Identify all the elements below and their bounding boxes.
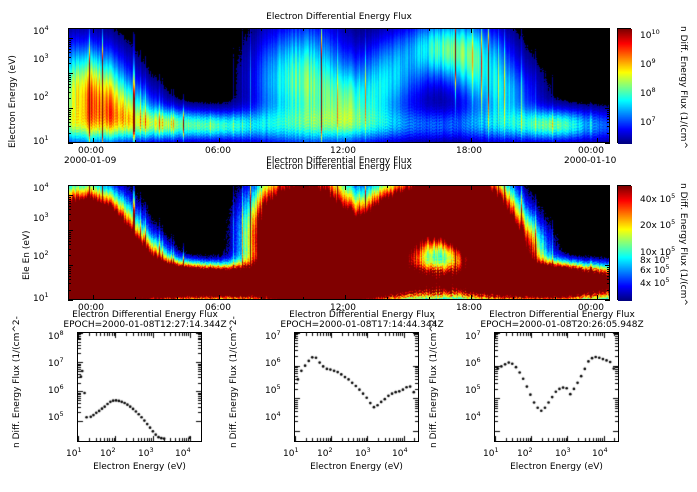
spectrum-1-title: Electron Differential Energy Flux (45, 310, 245, 320)
spectrum-1-ytick-3: 105 (48, 410, 64, 423)
axis-tick (597, 295, 598, 300)
axis-tick (68, 38, 73, 39)
axis-tick (607, 79, 610, 80)
middle-cbar-tick-1: 20x 105 (640, 218, 675, 231)
axis-tick (387, 297, 388, 300)
axis-tick (261, 140, 262, 143)
axis-tick (607, 75, 610, 76)
axis-tick (68, 73, 73, 74)
axis-tick (68, 75, 71, 76)
axis-tick (607, 255, 610, 256)
top-ytick-1: 101 (33, 134, 49, 147)
axis-tick (303, 297, 304, 300)
spectrum-3-frame (494, 332, 619, 442)
axis-tick (429, 185, 430, 188)
axis-tick (68, 203, 71, 204)
axis-tick (68, 269, 71, 270)
axis-tick (135, 140, 136, 143)
axis-tick (597, 138, 598, 143)
axis-tick (261, 28, 262, 31)
axis-tick (607, 57, 610, 58)
middle-cbar-label: n Diff. Energy Flux (1/(cm^ (678, 183, 688, 306)
axis-tick (68, 119, 71, 120)
spectrum-1-ytick-2: 106 (48, 383, 64, 396)
axis-tick (429, 140, 430, 143)
axis-tick (68, 79, 71, 80)
axis-tick (607, 199, 610, 200)
spectrum-1-ytick-1: 107 (48, 356, 64, 369)
axis-tick (607, 40, 610, 41)
axis-tick (68, 52, 71, 53)
spectrum-3-ylabel: n Diff. Energy Flux (1/(cm^2- (429, 316, 439, 448)
axis-tick (303, 28, 304, 31)
middle-cbar-tick-5: 4x 105 (640, 276, 670, 289)
axis-tick (429, 28, 430, 31)
axis-tick (607, 267, 610, 268)
spectrum-2-ytick-2: 105 (265, 383, 281, 396)
spectrum-1-frame (77, 332, 202, 442)
top-cbar-label: n Diff. Energy Flux (1/(cm^ (678, 26, 688, 149)
axis-tick (607, 119, 610, 120)
axis-tick (68, 244, 71, 245)
axis-tick (555, 297, 556, 300)
middle-ytick-4: 104 (33, 181, 49, 194)
axis-tick (607, 46, 610, 47)
axis-tick (68, 63, 71, 64)
axis-tick (513, 28, 514, 31)
axis-tick (68, 273, 71, 274)
axis-tick (607, 116, 610, 117)
top-cbar-tick-1: 109 (640, 57, 656, 70)
axis-tick (607, 114, 610, 115)
axis-tick (607, 63, 610, 64)
spectrum-3-xtick-1: 102 (517, 446, 533, 459)
axis-tick (605, 230, 610, 231)
axis-tick (219, 185, 220, 190)
axis-tick (607, 87, 610, 88)
axis-tick (607, 42, 610, 43)
axis-tick (68, 241, 71, 242)
axis-tick (607, 49, 610, 50)
axis-tick (605, 73, 610, 74)
axis-tick (607, 201, 610, 202)
axis-tick (68, 267, 71, 268)
top-colorbar (617, 28, 631, 143)
axis-tick (607, 269, 610, 270)
axis-tick (261, 297, 262, 300)
axis-tick (387, 140, 388, 143)
axis-tick (345, 138, 346, 143)
top-panel-title: Electron Differential Energy Flux (68, 12, 610, 22)
spectrum-2-xtick-2: 103 (355, 446, 371, 459)
top-cbar-label-group: n Diff. Energy Flux (1/(cm^ (688, 26, 697, 36)
middle-ytick-2: 102 (33, 249, 49, 262)
axis-tick (68, 230, 73, 231)
axis-tick (93, 185, 94, 190)
axis-tick (555, 140, 556, 143)
axis-tick (68, 201, 71, 202)
spectrum-3-xtick-3: 104 (592, 446, 608, 459)
axis-tick (607, 98, 610, 99)
spectrum-3-ytick-1: 106 (465, 356, 481, 369)
axis-tick (93, 28, 94, 33)
axis-tick (68, 133, 71, 134)
spectrum-2-frame (294, 332, 419, 442)
axis-tick (607, 110, 610, 111)
spectrum-1-xlabel: Electron Energy (eV) (77, 462, 202, 472)
top-cbar-tick-2: 108 (640, 86, 656, 99)
axis-tick (607, 241, 610, 242)
axis-tick (135, 185, 136, 188)
middle-colorbar (617, 185, 631, 300)
spectrum-2-ylabel: n Diff. Energy Flux (1/(cm^2- (229, 316, 239, 448)
spectrum-3-ytick-0: 107 (465, 329, 481, 342)
axis-tick (219, 28, 220, 33)
axis-tick (68, 220, 71, 221)
axis-tick (607, 273, 610, 274)
axis-tick (607, 28, 610, 29)
spectrum-2-xtick-0: 101 (283, 446, 299, 459)
axis-tick (607, 185, 610, 186)
axis-tick (607, 122, 610, 123)
axis-tick (607, 276, 610, 277)
axis-tick (68, 236, 71, 237)
top-xtick-4: 00:00 (578, 146, 604, 156)
axis-tick (219, 295, 220, 300)
axis-tick (471, 28, 472, 33)
axis-tick (605, 143, 610, 144)
axis-tick (607, 214, 610, 215)
axis-tick (68, 185, 71, 186)
middle-ylabel-group: Ele En (eV) (22, 280, 72, 290)
axis-tick (177, 28, 178, 31)
top-plot-frame (68, 28, 610, 143)
axis-tick (177, 140, 178, 143)
axis-tick (68, 238, 71, 239)
axis-tick (68, 195, 73, 196)
spectrum-2-ytick-1: 106 (265, 356, 281, 369)
axis-tick (68, 49, 71, 50)
axis-tick (68, 209, 71, 210)
axis-tick (68, 249, 71, 250)
axis-tick (68, 42, 71, 43)
axis-tick (387, 28, 388, 31)
axis-tick (605, 265, 610, 266)
axis-tick (513, 297, 514, 300)
top-xtick-0: 00:00 (78, 146, 104, 156)
axis-tick (555, 185, 556, 188)
axis-tick (68, 46, 71, 47)
axis-tick (387, 185, 388, 188)
axis-tick (607, 283, 610, 284)
axis-tick (471, 138, 472, 143)
spectrum-1-xtick-1: 102 (100, 446, 116, 459)
axis-tick (345, 295, 346, 300)
spectrum-3-xlabel: Electron Energy (eV) (494, 462, 619, 472)
spectrum-1-xtick-3: 104 (175, 446, 191, 459)
axis-tick (68, 57, 71, 58)
axis-tick (135, 297, 136, 300)
middle-ytick-3: 103 (33, 211, 49, 224)
top-ytick-3: 103 (33, 52, 49, 65)
axis-tick (261, 185, 262, 188)
axis-tick (607, 206, 610, 207)
axis-tick (68, 265, 73, 266)
axis-tick (68, 40, 71, 41)
spectrum-3-xtick-2: 103 (555, 446, 571, 459)
axis-tick (68, 28, 71, 29)
axis-tick (513, 140, 514, 143)
axis-tick (68, 77, 71, 78)
spectrum-1-xtick-0: 101 (66, 446, 82, 459)
top-xtick-1: 06:00 (205, 146, 231, 156)
middle-plot-frame (68, 185, 610, 300)
axis-tick (607, 126, 610, 127)
axis-tick (555, 28, 556, 31)
axis-tick (607, 92, 610, 93)
middle-cbar-tick-4: 6x 105 (640, 263, 670, 276)
spectrum-2-xlabel: Electron Energy (eV) (294, 462, 419, 472)
middle-panel-title: Electron Differential Energy Flux (68, 162, 610, 172)
spectrum-1-xtick-2: 103 (138, 446, 154, 459)
axis-tick (607, 209, 610, 210)
axis-tick (219, 138, 220, 143)
spectrum-2-xtick-1: 102 (317, 446, 333, 459)
spectrum-3-ytick-3: 104 (465, 410, 481, 423)
axis-tick (605, 195, 610, 196)
spectrum-3-xtick-0: 101 (483, 446, 499, 459)
axis-tick (68, 87, 71, 88)
spectrum-2-ytick-3: 104 (265, 410, 281, 423)
axis-tick (68, 197, 71, 198)
top-xtick-3: 18:00 (456, 146, 482, 156)
spectrum-3-ytick-2: 105 (465, 383, 481, 396)
axis-tick (68, 126, 71, 127)
axis-tick (68, 92, 71, 93)
top-ytick-4: 104 (33, 24, 49, 37)
axis-tick (607, 133, 610, 134)
axis-tick (303, 140, 304, 143)
axis-tick (471, 185, 472, 190)
top-xtick-2: 12:00 (330, 146, 356, 156)
axis-tick (68, 114, 71, 115)
axis-tick (607, 271, 610, 272)
axis-tick (68, 116, 71, 117)
axis-tick (607, 52, 610, 53)
spectrum-1-ytick-0: 108 (48, 329, 64, 342)
axis-tick (429, 297, 430, 300)
top-ytick-2: 102 (33, 90, 49, 103)
axis-tick (177, 185, 178, 188)
axis-tick (68, 44, 71, 45)
axis-tick (68, 290, 71, 291)
axis-tick (607, 244, 610, 245)
top-cbar-tick-0: 1010 (640, 28, 660, 41)
axis-tick (68, 122, 71, 123)
axis-tick (68, 108, 73, 109)
spectrum-3-epoch: EPOCH=2000-01-08T20:26:05.948Z (457, 320, 667, 330)
axis-tick (605, 300, 610, 301)
axis-tick (607, 84, 610, 85)
axis-tick (607, 290, 610, 291)
axis-tick (68, 255, 71, 256)
axis-tick (135, 28, 136, 31)
axis-tick (93, 295, 94, 300)
spectrum-1-ylabel: n Diff. Energy Flux (1/(cm^2- (12, 316, 22, 448)
axis-tick (471, 295, 472, 300)
axis-tick (345, 185, 346, 190)
axis-tick (607, 249, 610, 250)
axis-tick (68, 271, 71, 272)
axis-tick (68, 279, 71, 280)
axis-tick (93, 138, 94, 143)
middle-cbar-tick-0: 40x 105 (640, 192, 675, 205)
axis-tick (607, 236, 610, 237)
axis-tick (605, 108, 610, 109)
middle-cbar-label-group: n Diff. Energy Flux (1/(cm^ (688, 183, 697, 193)
axis-tick (607, 279, 610, 280)
axis-tick (597, 28, 598, 33)
axis-tick (607, 197, 610, 198)
axis-tick (68, 283, 71, 284)
top-cbar-tick-3: 107 (640, 115, 656, 128)
axis-tick (68, 276, 71, 277)
axis-tick (68, 143, 73, 144)
axis-tick (68, 110, 71, 111)
axis-tick (607, 81, 610, 82)
axis-tick (68, 234, 71, 235)
axis-tick (607, 220, 610, 221)
axis-tick (605, 38, 610, 39)
axis-tick (68, 232, 71, 233)
axis-tick (177, 297, 178, 300)
axis-tick (345, 28, 346, 33)
axis-tick (607, 112, 610, 113)
axis-tick (68, 199, 71, 200)
axis-tick (303, 185, 304, 188)
axis-tick (607, 203, 610, 204)
axis-tick (68, 98, 71, 99)
middle-ylabel: Ele En (eV) (22, 230, 32, 280)
axis-tick (68, 206, 71, 207)
axis-tick (607, 77, 610, 78)
axis-tick (68, 300, 73, 301)
axis-tick (607, 232, 610, 233)
spectrum-3-title: Electron Differential Energy Flux (462, 310, 662, 320)
spectrum-1-epoch: EPOCH=2000-01-08T12:27:14.344Z (40, 320, 250, 330)
top-ylabel: Electron Energy (eV) (8, 55, 18, 148)
axis-tick (68, 84, 71, 85)
axis-tick (513, 185, 514, 188)
axis-tick (68, 81, 71, 82)
axis-tick (597, 185, 598, 190)
middle-ytick-1: 101 (33, 291, 49, 304)
axis-tick (68, 112, 71, 113)
axis-tick (607, 44, 610, 45)
axis-tick (68, 214, 71, 215)
axis-tick (607, 234, 610, 235)
spectrum-2-ytick-0: 107 (265, 329, 281, 342)
axis-tick (607, 238, 610, 239)
spectrum-2-xtick-3: 104 (392, 446, 408, 459)
